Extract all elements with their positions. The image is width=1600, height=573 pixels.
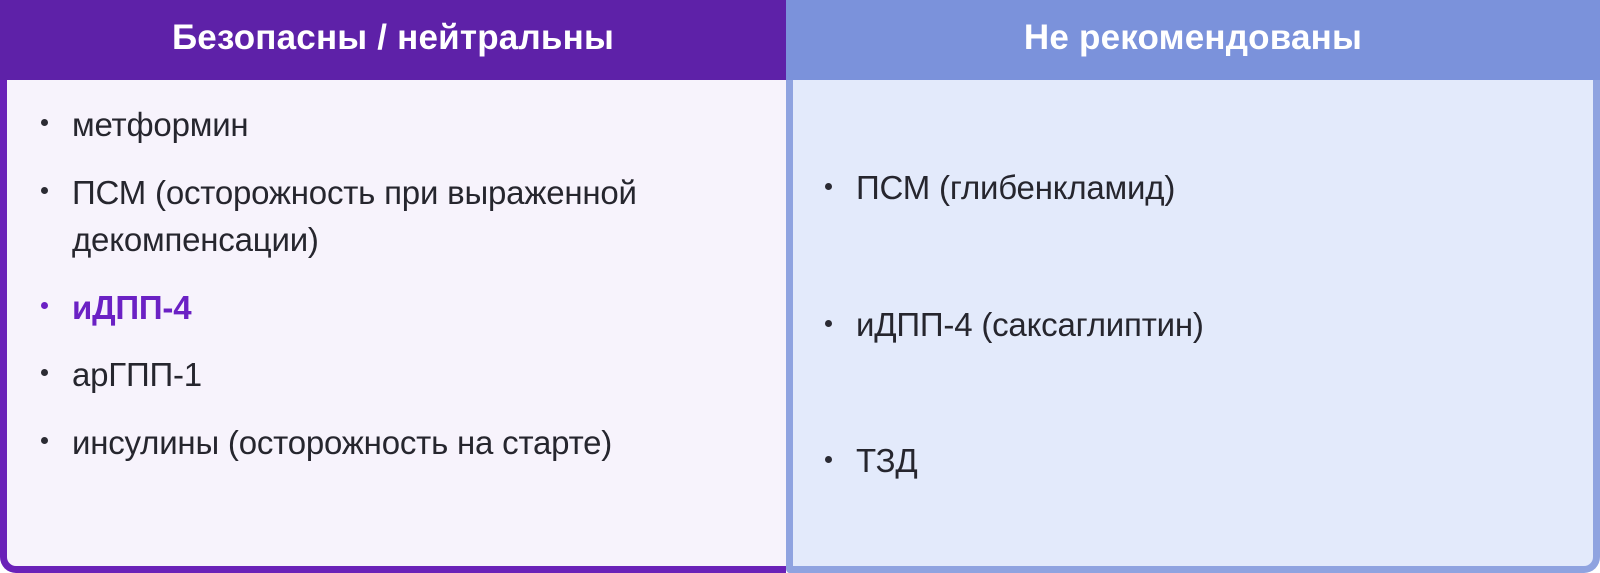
list-item: метформин	[41, 102, 768, 149]
list-item-highlighted: иДПП-4	[41, 285, 768, 332]
column-body-not-recommended: ПСМ (глибенкламид) иДПП-4 (саксаглиптин)…	[786, 80, 1600, 573]
bullet-icon	[41, 302, 48, 309]
list-item-label: иДПП-4 (саксаглиптин)	[856, 302, 1573, 349]
drug-list-safe-neutral: метформин ПСМ (осторожность при выраженн…	[41, 102, 768, 546]
list-item-label: инсулины (осторожность на старте)	[72, 420, 768, 467]
column-safe-neutral: Безопасны / нейтральны метформин ПСМ (ос…	[0, 0, 786, 573]
list-item-label: ПСМ (осторожность при выраженной декомпе…	[72, 170, 768, 264]
bullet-icon	[825, 456, 832, 463]
list-item: ТЗД	[825, 438, 1573, 485]
column-header-safe-neutral: Безопасны / нейтральны	[0, 0, 786, 80]
bullet-icon	[825, 320, 832, 327]
list-item: инсулины (осторожность на старте)	[41, 420, 768, 467]
list-item: иДПП-4 (саксаглиптин)	[825, 302, 1573, 349]
list-item-label: иДПП-4	[72, 285, 768, 332]
list-item-label: ТЗД	[856, 438, 1573, 485]
drug-list-not-recommended: ПСМ (глибенкламид) иДПП-4 (саксаглиптин)…	[825, 120, 1573, 530]
list-item-label: арГПП-1	[72, 352, 768, 399]
bullet-icon	[41, 119, 48, 126]
bullet-icon	[41, 369, 48, 376]
bullet-icon	[41, 437, 48, 444]
list-item-label: метформин	[72, 102, 768, 149]
list-item: арГПП-1	[41, 352, 768, 399]
list-item: ПСМ (осторожность при выраженной декомпе…	[41, 170, 768, 264]
column-body-safe-neutral: метформин ПСМ (осторожность при выраженн…	[0, 80, 786, 573]
column-not-recommended: Не рекомендованы ПСМ (глибенкламид) иДПП…	[786, 0, 1600, 573]
list-item-label: ПСМ (глибенкламид)	[856, 165, 1573, 212]
list-item: ПСМ (глибенкламид)	[825, 165, 1573, 212]
column-header-not-recommended: Не рекомендованы	[786, 0, 1600, 80]
bullet-icon	[41, 187, 48, 194]
comparison-table: Безопасны / нейтральны метформин ПСМ (ос…	[0, 0, 1600, 573]
bullet-icon	[825, 183, 832, 190]
